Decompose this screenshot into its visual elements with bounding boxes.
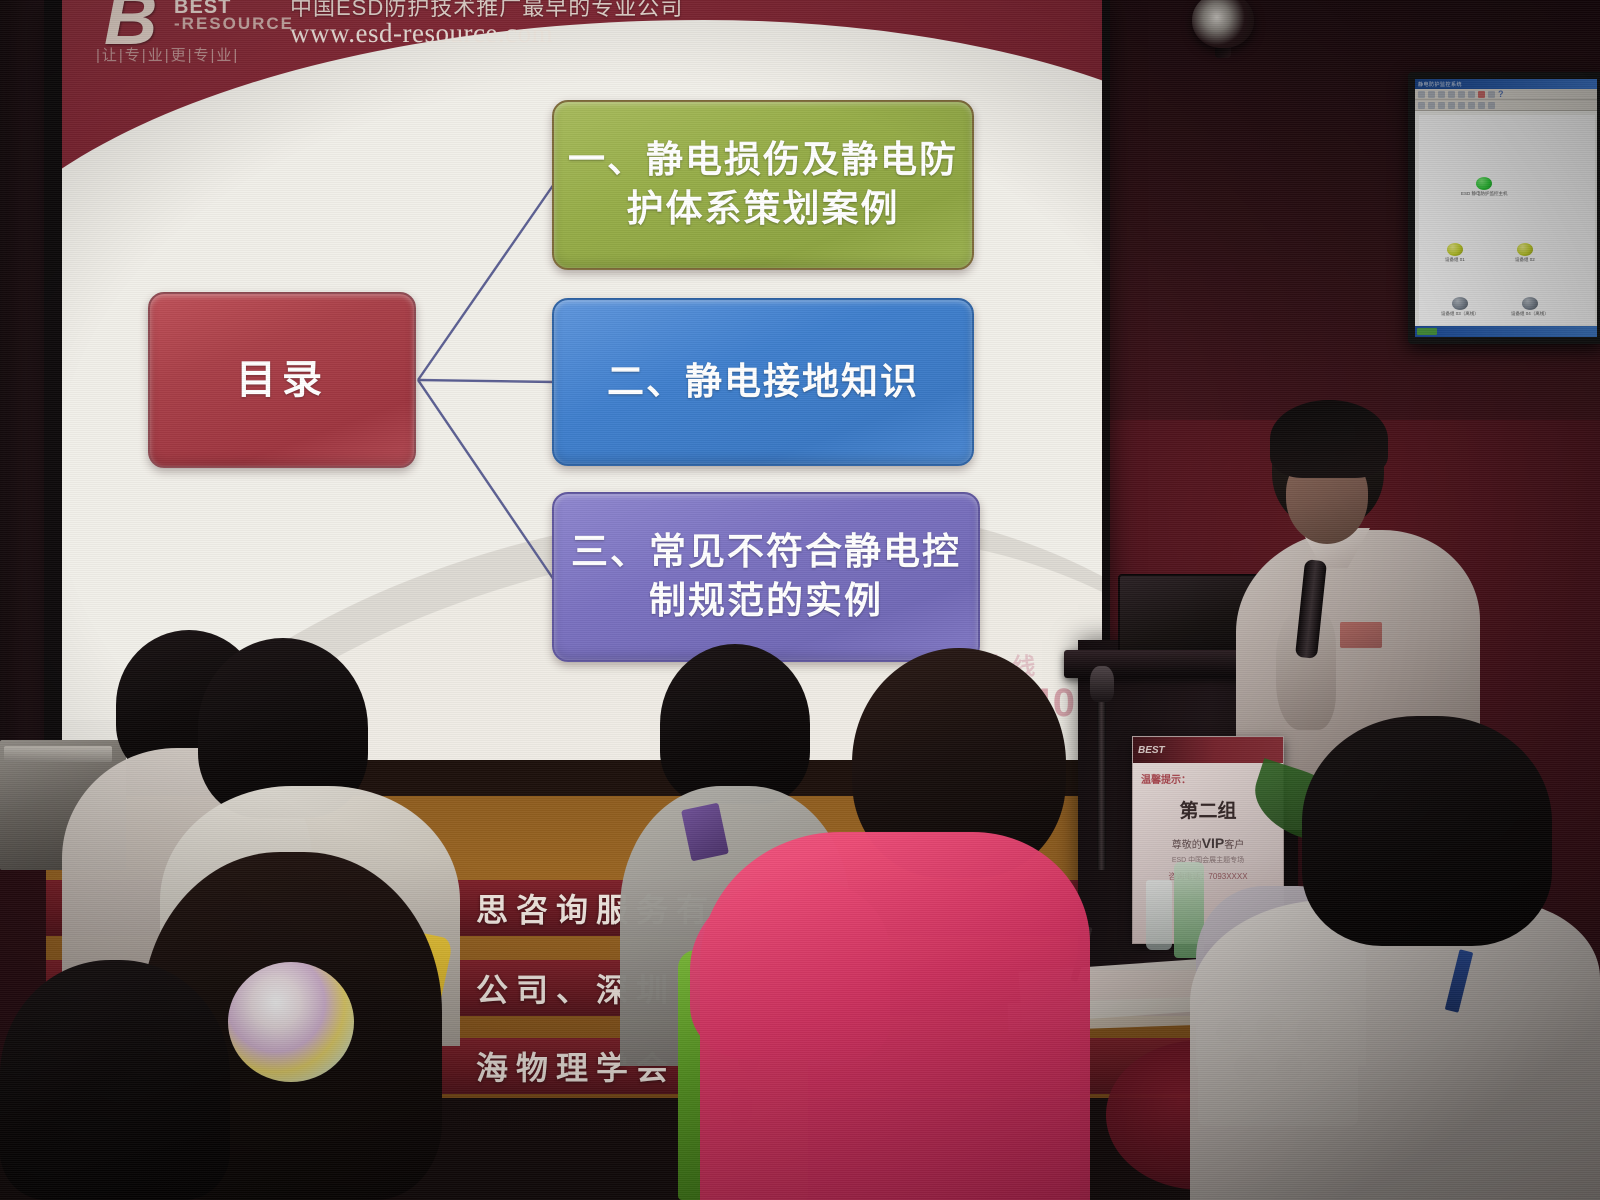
- monitor-window-title: 静电防护监控系统: [1415, 81, 1462, 88]
- audience-member-4-hair: [0, 960, 230, 1200]
- hair-scrunchie: [228, 962, 354, 1082]
- diagram-root-node[interactable]: 目录: [148, 292, 416, 468]
- toolbar2-icon-8[interactable]: [1488, 102, 1495, 109]
- diagram-branch-label-1: 一、静电损伤及静电防护体系策划案例: [568, 136, 958, 234]
- presenter-badge: [1340, 622, 1382, 648]
- sign-vip-suffix: 客户: [1224, 840, 1244, 851]
- toolbar2-icon-7[interactable]: [1478, 102, 1485, 109]
- topology-node-label-1: 设备组 01: [1445, 257, 1465, 263]
- diagram-branch-label-3: 三、常见不符合静电控制规范的实例: [568, 528, 964, 626]
- monitor-window-titlebar: 静电防护监控系统: [1415, 79, 1597, 89]
- topology-node-label-0: ESD 静电防护监控主机: [1461, 191, 1508, 197]
- sign-vip-line: 尊敬的VIP客户: [1133, 835, 1283, 851]
- diagram-branch-node-1[interactable]: 一、静电损伤及静电防护体系策划案例: [552, 100, 974, 270]
- toolbar-icon-5[interactable]: [1458, 91, 1465, 98]
- toolbar-icon-2[interactable]: [1428, 91, 1435, 98]
- diagram-branch-node-2[interactable]: 二、静电接地知识: [552, 298, 974, 466]
- node-status-dot: [1452, 297, 1468, 310]
- presenter-hair: [1270, 400, 1388, 478]
- toolbar-icon-3[interactable]: [1438, 91, 1445, 98]
- toolbar-icon-7[interactable]: [1488, 91, 1495, 98]
- toolbar2-icon-4[interactable]: [1448, 102, 1455, 109]
- sign-vip-word: VIP: [1202, 835, 1225, 851]
- toolbar2-icon-6[interactable]: [1468, 102, 1475, 109]
- node-status-dot: [1517, 243, 1533, 256]
- toolbar2-icon-3[interactable]: [1438, 102, 1445, 109]
- topology-node-2[interactable]: 设备组 02: [1515, 243, 1535, 263]
- toolbar-icon-4[interactable]: [1448, 91, 1455, 98]
- topology-node-1[interactable]: 设备组 01: [1445, 243, 1465, 263]
- topology-node-label-4: 设备组 04（离线）: [1511, 311, 1549, 317]
- audience-member-5-hair: [660, 644, 810, 804]
- toolbar2-icon-1[interactable]: [1418, 102, 1425, 109]
- monitor-topology-canvas[interactable]: ESD 静电防护监控主机 设备组 01 设备组 02 设备组 03（离线） 设备…: [1419, 115, 1595, 325]
- microphone-stand: [1097, 690, 1106, 870]
- topology-node-3[interactable]: 设备组 03（离线）: [1441, 297, 1479, 317]
- topology-node-0[interactable]: ESD 静电防护监控主机: [1461, 177, 1508, 197]
- seminar-photo: 士 e B BEST -RESOURCE |让|专|业|更|专|业| 中国ESD…: [0, 0, 1600, 1200]
- toolbar-stop-icon[interactable]: [1478, 91, 1485, 98]
- monitor-toolbar-row-2[interactable]: [1415, 100, 1597, 111]
- node-status-dot: [1447, 243, 1463, 256]
- audience-member-7-hair: [1302, 716, 1552, 946]
- drinking-glass: [1146, 880, 1172, 950]
- topology-node-label-3: 设备组 03（离线）: [1441, 311, 1479, 317]
- help-icon[interactable]: ?: [1498, 89, 1504, 99]
- diagram-branch-label-2: 二、静电接地知识: [607, 358, 919, 407]
- sign-brand-mini: BEST: [1138, 745, 1165, 756]
- microphone-icon: [1090, 666, 1114, 702]
- toolbar-icon-1[interactable]: [1418, 91, 1425, 98]
- sign-sub-line: ESD 中国会展主题专场: [1133, 855, 1283, 865]
- start-button[interactable]: [1417, 328, 1437, 335]
- toolbar2-icon-5[interactable]: [1458, 102, 1465, 109]
- topology-node-label-2: 设备组 02: [1515, 257, 1535, 263]
- diagram-branch-node-3[interactable]: 三、常见不符合静电控制规范的实例: [552, 492, 980, 662]
- monitor-taskbar[interactable]: [1415, 326, 1597, 337]
- topology-node-4[interactable]: 设备组 04（离线）: [1511, 297, 1549, 317]
- monitor-screen: 静电防护监控系统 ?: [1415, 79, 1597, 337]
- node-status-dot: [1522, 297, 1538, 310]
- monitor-toolbar-row-1[interactable]: ?: [1415, 89, 1597, 100]
- sign-vip-prefix: 尊敬的: [1172, 840, 1202, 851]
- node-status-dot: [1476, 177, 1492, 190]
- toolbar2-icon-2[interactable]: [1428, 102, 1435, 109]
- audience-member-6-body-pink: [700, 832, 1090, 1200]
- toolbar-icon-6[interactable]: [1468, 91, 1475, 98]
- box-lip: [4, 746, 112, 762]
- wall-monitor: 静电防护监控系统 ?: [1408, 72, 1600, 344]
- sign-header-band: BEST: [1133, 737, 1283, 763]
- diagram-root-label: 目录: [236, 354, 328, 407]
